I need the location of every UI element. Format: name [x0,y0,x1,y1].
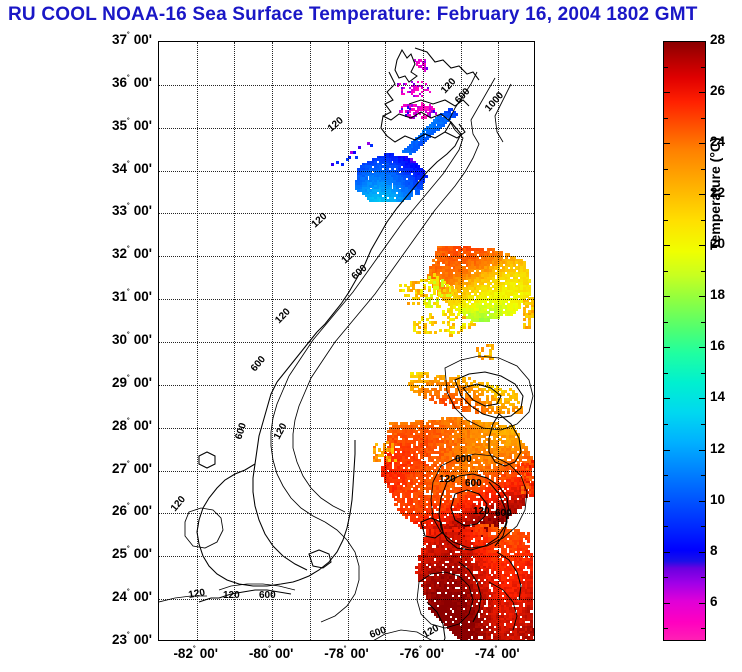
colorbar-minor-tick [701,322,706,323]
colorbar-tick [699,347,706,348]
lat-tick-label: 36˚ 00' [104,75,152,90]
colorbar-tick [663,603,670,604]
gridline-lat [159,342,534,343]
lat-tick-label: 37˚ 00' [104,32,152,47]
colorbar-minor-tick [663,577,668,578]
colorbar-minor-tick [701,526,706,527]
gridline-lon [310,42,311,640]
gridline-lon [272,42,273,640]
gridline-lat [159,128,534,129]
colorbar-tick [699,552,706,553]
colorbar-tick [699,296,706,297]
svg-text:600: 600 [453,86,473,106]
colorbar-tick [699,398,706,399]
colorbar-tick-label: 14 [710,389,725,404]
page-title: RU COOL NOAA-16 Sea Surface Temperature:… [8,3,708,27]
colorbar-tick [663,296,670,297]
lat-tick-label: 25˚ 00' [104,546,152,561]
svg-text:120: 120 [326,115,346,134]
colorbar-tick-label: 10 [710,492,725,507]
colorbar-tick [699,450,706,451]
gridline-lon [197,42,198,640]
colorbar-tick [663,245,670,246]
colorbar-minor-tick [701,169,706,170]
lat-tick-label: 27˚ 00' [104,461,152,476]
colorbar-tick [663,41,670,42]
colorbar-tick [663,552,670,553]
lat-tick-label: 24˚ 00' [104,589,152,604]
lon-tick-label: -82˚ 00' [156,646,236,661]
gridline-lat [159,428,534,429]
colorbar-title: Temperature (°C) [707,60,723,250]
colorbar-minor-tick [701,67,706,68]
colorbar-minor-tick [663,526,668,527]
colorbar-tick-label: 8 [710,543,718,558]
lon-tick-label: -80˚ 00' [231,646,311,661]
gridline-lat [159,513,534,514]
coastline-paths [159,48,523,640]
colorbar-minor-tick [663,220,668,221]
svg-text:120: 120 [439,76,459,96]
lat-tick-label: 32˚ 00' [104,246,152,261]
colorbar-tick [663,143,670,144]
gridline-lat [159,256,534,257]
gridline-lat [159,299,534,300]
lon-tick-label: -74˚ 00' [457,646,537,661]
colorbar-minor-tick [663,424,668,425]
svg-text:120: 120 [439,474,456,485]
colorbar-minor-tick [663,67,668,68]
sst-map-plot: 120 600 120 120 600 120 600 120 1000 600… [158,41,535,641]
map-canvas: 120 600 120 120 600 120 600 120 1000 600… [159,42,534,640]
colorbar-tick [663,398,670,399]
svg-text:600: 600 [455,454,472,465]
gridline-lon [348,42,349,640]
colorbar-tick [699,41,706,42]
svg-text:600: 600 [465,478,482,489]
colorbar-tick-label: 16 [710,338,725,353]
colorbar-tick [663,501,670,502]
svg-text:120: 120 [421,623,441,640]
gridline-lat [159,599,534,600]
gridline-lat [159,556,534,557]
colorbar-minor-tick [701,220,706,221]
colorbar-minor-tick [663,271,668,272]
svg-text:600: 600 [249,354,268,374]
lon-tick-label: -78˚ 00' [307,646,387,661]
lat-tick-label: 31˚ 00' [104,289,152,304]
gridline-lon [461,42,462,640]
colorbar-minor-tick [663,628,668,629]
lat-tick-label: 23˚ 00' [104,632,152,647]
svg-text:120: 120 [473,506,490,517]
svg-text:120: 120 [273,306,293,326]
colorbar-minor-tick [663,322,668,323]
colorbar-minor-tick [701,271,706,272]
lat-tick-label: 30˚ 00' [104,332,152,347]
colorbar-tick [699,194,706,195]
colorbar-minor-tick [701,577,706,578]
colorbar-tick-label: 28 [710,32,725,47]
colorbar-minor-tick [701,475,706,476]
gridline-lat [159,471,534,472]
colorbar-tick-label: 12 [710,441,725,456]
svg-text:120: 120 [169,494,188,514]
colorbar-minor-tick [701,373,706,374]
colorbar-tick [699,501,706,502]
gridline-lat [159,85,534,86]
gridline-lon [498,42,499,640]
gridline-lon [423,42,424,640]
colorbar-minor-tick [663,475,668,476]
colorbar-tick-label: 6 [710,594,718,609]
gridline-lat [159,385,534,386]
colorbar-tick-label: 18 [710,287,725,302]
bathymetry-contours [159,72,533,640]
gridline-lon [234,42,235,640]
colorbar-tick [663,92,670,93]
svg-text:120: 120 [272,421,290,441]
colorbar-minor-tick [701,118,706,119]
lat-tick-label: 26˚ 00' [104,503,152,518]
colorbar-tick [699,245,706,246]
gridline-lat [159,171,534,172]
colorbar-tick [663,194,670,195]
lon-tick-label: -76˚ 00' [382,646,462,661]
svg-text:600: 600 [233,421,249,441]
colorbar-tick [663,450,670,451]
colorbar-tick [699,603,706,604]
gridline-lon [385,42,386,640]
colorbar-tick [699,92,706,93]
lat-tick-label: 28˚ 00' [104,418,152,433]
lat-tick-label: 34˚ 00' [104,161,152,176]
colorbar-minor-tick [663,373,668,374]
lat-tick-label: 33˚ 00' [104,203,152,218]
coastline-bathymetry-overlay: 120 600 120 120 600 120 600 120 1000 600… [159,42,534,640]
colorbar-minor-tick [663,169,668,170]
lat-tick-label: 29˚ 00' [104,375,152,390]
colorbar-tick [699,143,706,144]
colorbar-minor-tick [701,628,706,629]
colorbar-minor-tick [701,424,706,425]
colorbar-minor-tick [663,118,668,119]
gridline-lat [159,213,534,214]
svg-text:600: 600 [350,263,370,283]
lat-tick-label: 35˚ 00' [104,118,152,133]
colorbar-tick [663,347,670,348]
